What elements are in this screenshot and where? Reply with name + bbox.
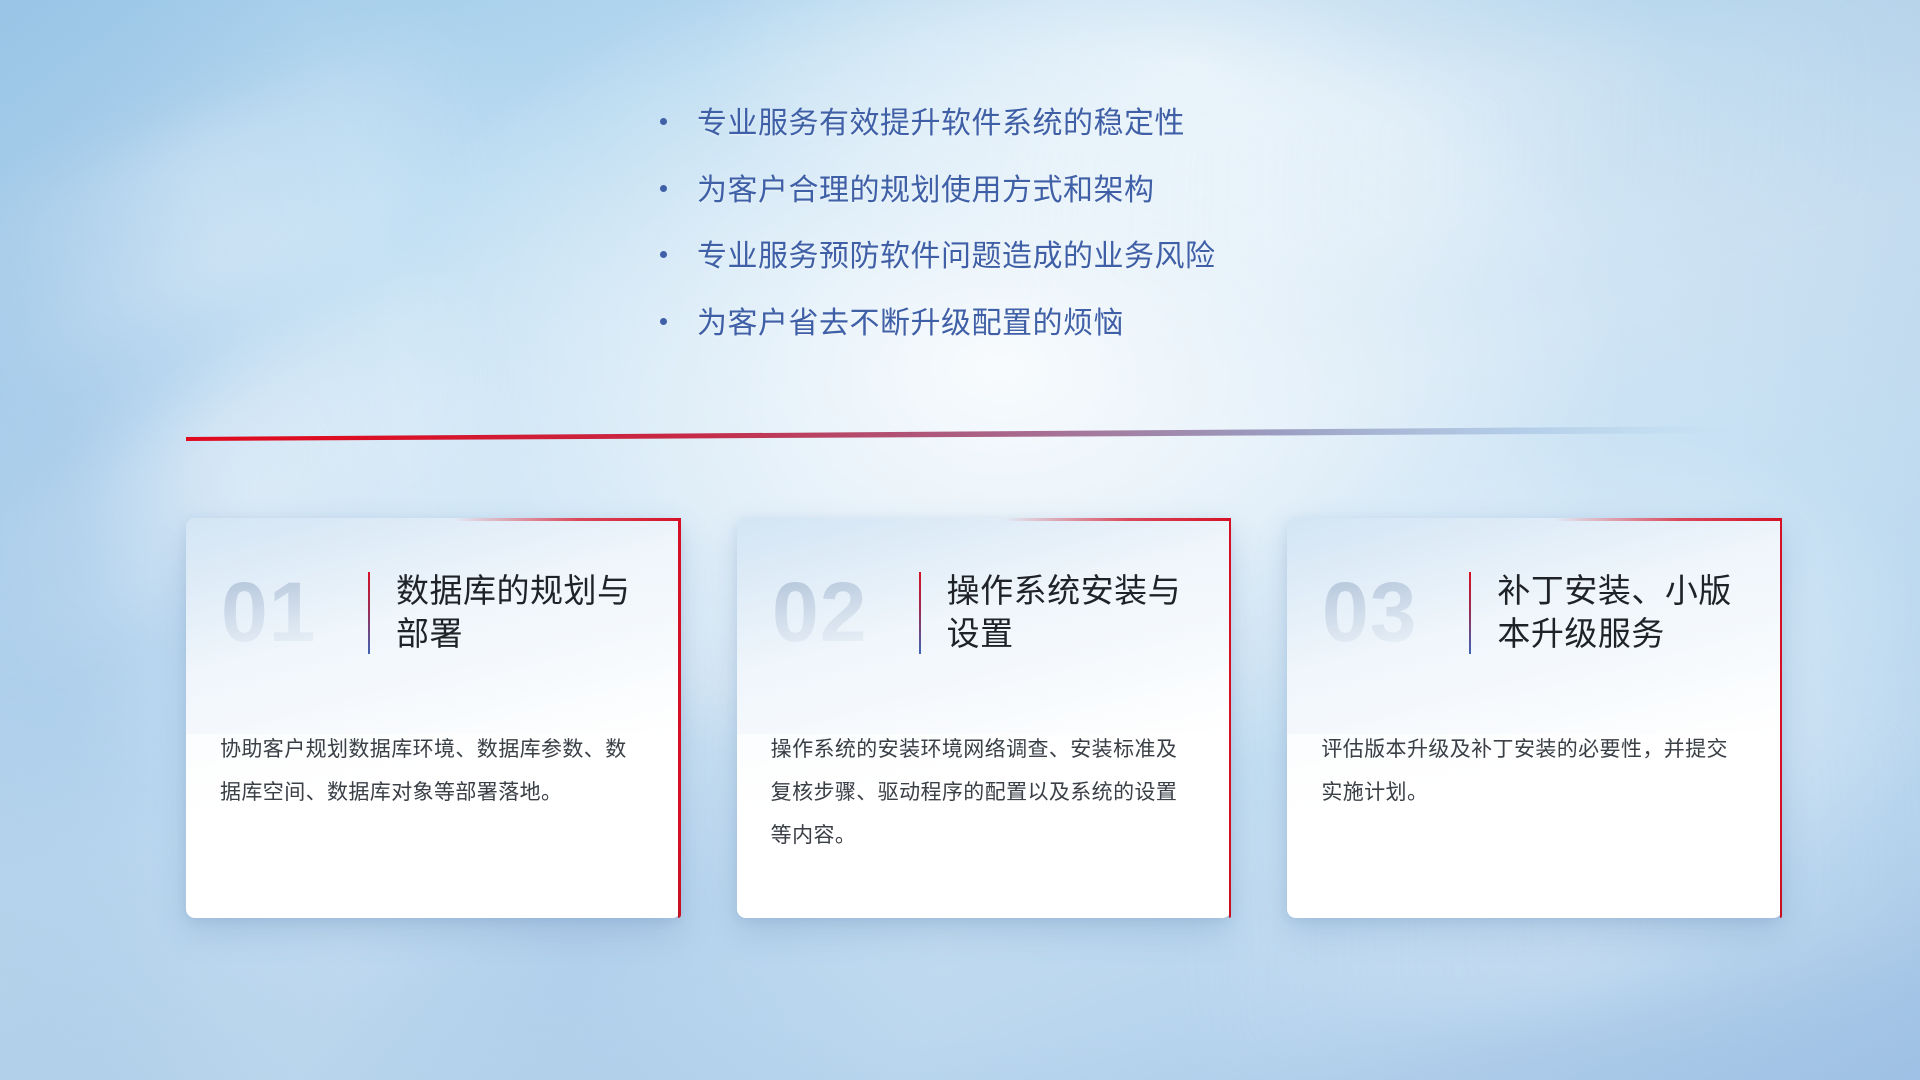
bullet-text: 为客户合理的规划使用方式和架构 <box>697 171 1480 211</box>
bullet-text: 专业服务有效提升软件系统的稳定性 <box>697 104 1480 144</box>
bullet-dot-icon <box>660 118 667 125</box>
bullet-dot-icon <box>660 185 667 192</box>
card-header: 02 操作系统安装与设置 <box>737 518 1232 668</box>
background-light-streak-1 <box>0 29 493 381</box>
card-header: 03 补丁安装、小版本升级服务 <box>1287 518 1782 668</box>
service-card-row: 01 数据库的规划与部署 协助客户规划数据库环境、数据库参数、数据库空间、数据库… <box>186 518 1782 918</box>
benefits-bullet-list: 专业服务有效提升软件系统的稳定性 为客户合理的规划使用方式和架构 专业服务预防软… <box>660 104 1480 370</box>
card-description: 协助客户规划数据库环境、数据库参数、数据库空间、数据库对象等部署落地。 <box>186 668 681 814</box>
service-card[interactable]: 02 操作系统安装与设置 操作系统的安装环境网络调查、安装标准及复核步骤、驱动程… <box>737 518 1232 918</box>
card-title-divider <box>368 572 370 654</box>
card-header: 01 数据库的规划与部署 <box>186 518 681 668</box>
list-item: 专业服务有效提升软件系统的稳定性 <box>660 104 1480 144</box>
card-title: 数据库的规划与部署 <box>396 570 647 656</box>
card-number-graphic: 03 <box>1321 567 1453 659</box>
list-item: 为客户省去不断升级配置的烦恼 <box>660 304 1480 344</box>
bullet-dot-icon <box>660 318 667 325</box>
card-description: 操作系统的安装环境网络调查、安装标准及复核步骤、驱动程序的配置以及系统的设置等内… <box>737 668 1232 857</box>
list-item: 专业服务预防软件问题造成的业务风险 <box>660 237 1480 277</box>
card-title: 补丁安装、小版本升级服务 <box>1497 570 1748 656</box>
section-divider <box>186 424 1746 446</box>
card-title: 操作系统安装与设置 <box>947 570 1198 656</box>
card-description: 评估版本升级及补丁安装的必要性，并提交实施计划。 <box>1287 668 1782 814</box>
list-item: 为客户合理的规划使用方式和架构 <box>660 171 1480 211</box>
card-number-graphic: 02 <box>771 567 903 659</box>
card-title-divider <box>1469 572 1471 654</box>
bullet-text: 专业服务预防软件问题造成的业务风险 <box>697 237 1480 277</box>
card-number-graphic: 01 <box>220 567 352 659</box>
bullet-text: 为客户省去不断升级配置的烦恼 <box>697 304 1480 344</box>
bullet-dot-icon <box>660 251 667 258</box>
card-title-divider <box>919 572 921 654</box>
slide-canvas: 专业服务有效提升软件系统的稳定性 为客户合理的规划使用方式和架构 专业服务预防软… <box>0 0 1920 1080</box>
service-card[interactable]: 03 补丁安装、小版本升级服务 评估版本升级及补丁安装的必要性，并提交实施计划。 <box>1287 518 1782 918</box>
service-card[interactable]: 01 数据库的规划与部署 协助客户规划数据库环境、数据库参数、数据库空间、数据库… <box>186 518 681 918</box>
